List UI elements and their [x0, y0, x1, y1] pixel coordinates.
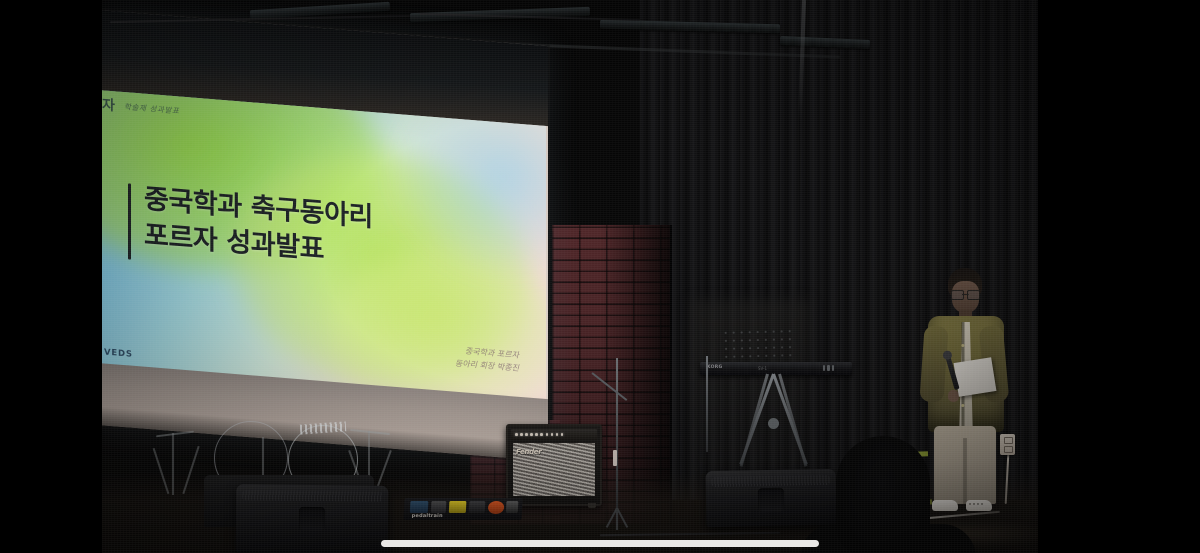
keyboard-knobs: [823, 365, 835, 371]
monitor-handle: [758, 488, 784, 512]
keyboard-knob: [827, 365, 830, 371]
mic-clip: [613, 450, 617, 466]
glasses-icon: [951, 290, 980, 298]
amp-knob: [515, 433, 518, 436]
mic-stand-pole: [616, 358, 618, 518]
paper-script: [954, 357, 997, 397]
glasses-lens: [967, 290, 980, 300]
letterbox-right: [1038, 0, 1200, 553]
keyboard-brand-label: KORG: [707, 365, 722, 370]
amp-knob: [561, 433, 564, 436]
amp-knob: [525, 433, 528, 436]
x-stand-leg: [740, 374, 769, 467]
amp-control-panel: [511, 429, 597, 440]
x-stand-pivot: [768, 418, 779, 429]
truss-bar: [600, 20, 780, 34]
amp-knob: [535, 433, 538, 436]
cymbal-stand-leg: [182, 446, 199, 494]
stage-monitor-wedge-left: [236, 484, 389, 553]
amp-knob: [530, 433, 533, 436]
cymbal: [350, 429, 390, 435]
stage-presentation-photo: 자 학술제 성과발표 중국학과 축구동아리 포르자 성과발표 중국학과 포르자 …: [0, 0, 1200, 553]
glasses-lens: [951, 290, 964, 300]
effect-pedal: [469, 501, 486, 513]
keyboard-x-stand: [722, 374, 826, 470]
projector-screen: 자 학술제 성과발표 중국학과 축구동아리 포르자 성과발표 중국학과 포르자 …: [96, 10, 548, 461]
keyboard-knob: [823, 365, 826, 371]
monitor-grille: [712, 475, 830, 487]
keyboard-knob: [832, 365, 835, 371]
stand-upright: [706, 356, 708, 452]
music-stand: [722, 327, 797, 363]
presenter-shoe-right: [966, 500, 992, 511]
pedalboard-brand-label: pedaltrain: [411, 513, 442, 519]
truss-bar: [780, 36, 870, 49]
cymbal: [156, 431, 194, 438]
cymbal-stand-leg: [153, 448, 170, 494]
mic-stand-leg: [616, 508, 618, 530]
effect-pedal: [449, 501, 467, 513]
keyboard-model-label: SV-1: [758, 366, 767, 371]
amp-knob: [546, 433, 549, 436]
presenter-trousers: [934, 426, 996, 504]
presenter-shoe-left: [932, 500, 958, 511]
audience-head-silhouette: [836, 436, 930, 553]
screen-frame: [94, 8, 550, 464]
monitor-grille: [242, 490, 382, 501]
letterbox-left: [0, 0, 102, 553]
amp-knob: [551, 433, 554, 436]
cymbal-stand: [172, 433, 174, 495]
guitar-amplifier: Fender: [506, 424, 602, 506]
amp-brand-logo: Fender: [516, 448, 541, 456]
x-stand-leg: [778, 374, 807, 467]
amp-knob: [556, 433, 559, 436]
stage-monitor-wedge-right: [706, 469, 837, 527]
effect-pedal: [410, 501, 429, 513]
effect-pedal: [488, 501, 505, 514]
amp-knob: [520, 433, 523, 436]
effect-pedal: [506, 501, 519, 513]
keyboard-rig: KORG SV-1: [700, 350, 860, 480]
home-indicator[interactable]: [381, 540, 819, 547]
effects-pedalboard: pedaltrain: [403, 498, 522, 520]
mic-stand-legs: [598, 508, 638, 530]
amp-knob: [540, 433, 543, 436]
monitor-handle: [299, 507, 325, 531]
mic-stand-boom: [591, 372, 627, 401]
effect-pedal: [431, 501, 447, 513]
amp-foot: [588, 503, 596, 508]
amp-feet: [512, 503, 596, 508]
